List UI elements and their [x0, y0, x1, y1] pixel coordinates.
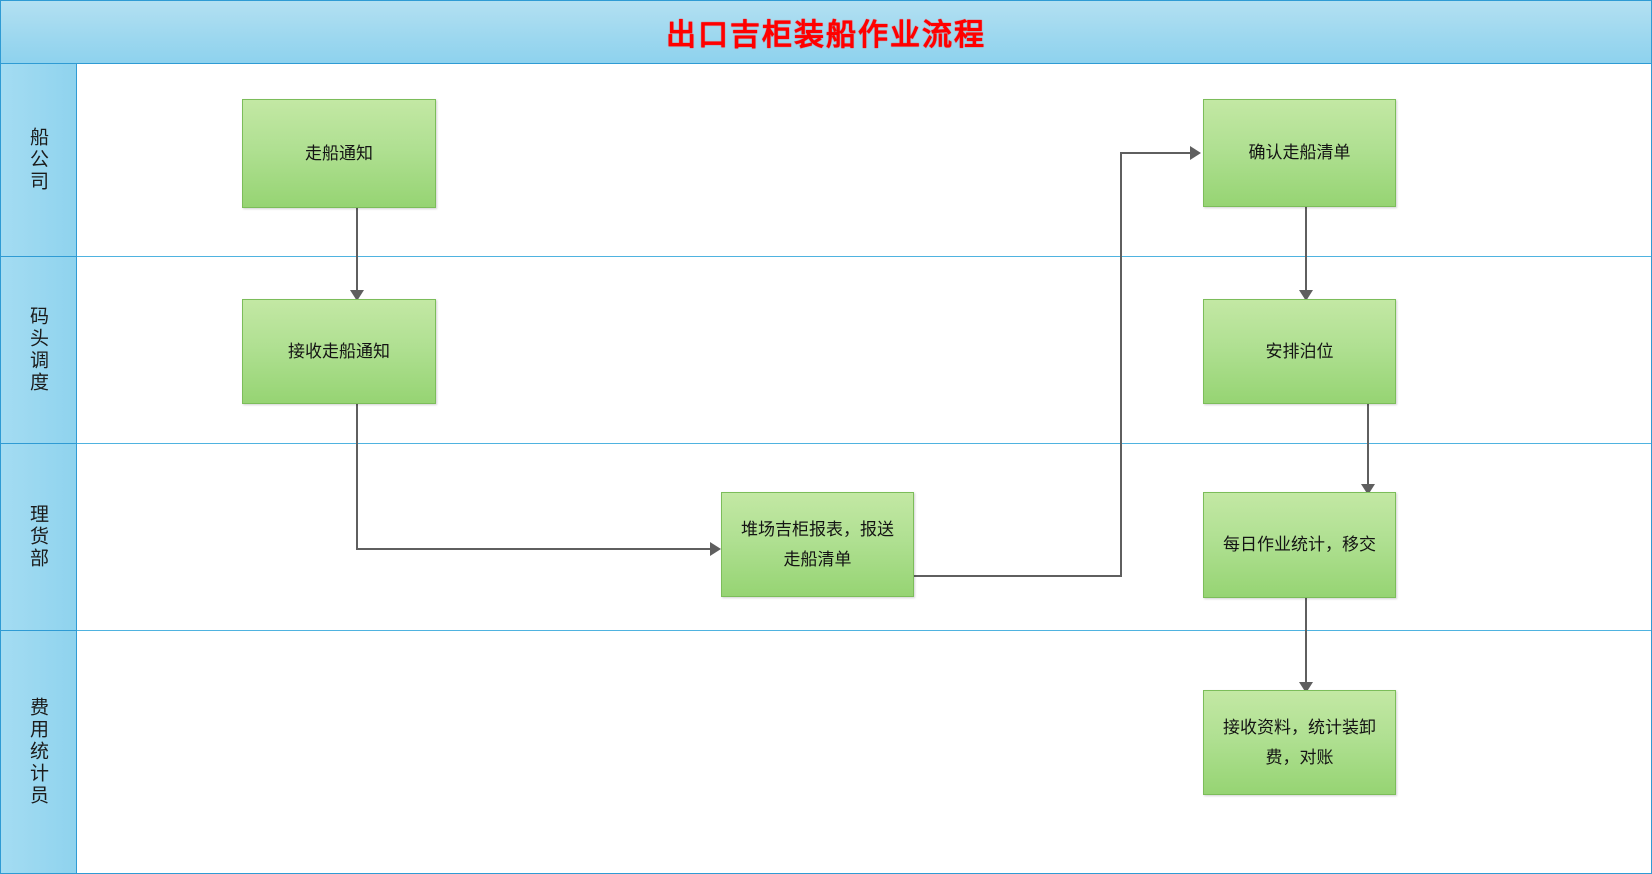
node-confirm-list[interactable]: 确认走船清单	[1203, 99, 1396, 207]
node-confirm-list-label: 确认走船清单	[1249, 138, 1351, 168]
node-receive-notice[interactable]: 接收走船通知	[242, 299, 436, 404]
conn-daily-to-receive-segment	[1305, 598, 1307, 684]
lane-label-fee-statistician: 费用统计员	[25, 697, 52, 807]
lane-label-tally-dept: 理货部	[25, 504, 52, 570]
conn-report-to-confirm-arrowhead	[1190, 146, 1201, 160]
lane-header-ship-company: 船公司	[1, 64, 77, 257]
node-receive-data-line2: 费，对账	[1266, 748, 1334, 768]
node-sail-notice-label: 走船通知	[305, 139, 373, 169]
node-daily-stat[interactable]: 每日作业统计，移交	[1203, 492, 1396, 598]
node-yard-report-line1: 堆场吉柜报表，报送	[741, 520, 894, 540]
conn-report-to-confirm-vertical	[1120, 152, 1122, 577]
node-receive-data-line1: 接收资料，统计装卸	[1223, 718, 1376, 738]
node-yard-report-label: 堆场吉柜报表，报送 走船清单	[741, 515, 894, 575]
conn-notice-to-receive-segment	[356, 208, 358, 292]
conn-receive-to-report-vertical	[356, 404, 358, 550]
lane-label-dock-dispatch: 码头调度	[25, 306, 52, 394]
lane-body-fee-statistician	[77, 631, 1651, 873]
conn-receive-to-report-arrowhead	[710, 542, 721, 556]
lane-header-dock-dispatch: 码头调度	[1, 257, 77, 444]
node-sail-notice[interactable]: 走船通知	[242, 99, 436, 208]
lane-label-ship-company: 船公司	[25, 127, 52, 193]
flowchart-canvas: 出口吉柜装船作业流程 船公司 码头调度 理货部 费用统计员 走船通知 接收走船通…	[0, 0, 1652, 874]
page-title: 出口吉柜装船作业流程	[666, 10, 986, 54]
conn-berth-to-daily-segment	[1367, 404, 1369, 486]
title-band: 出口吉柜装船作业流程	[1, 1, 1651, 64]
node-daily-stat-label: 每日作业统计，移交	[1223, 530, 1376, 560]
conn-confirm-to-berth-segment	[1305, 207, 1307, 292]
node-receive-data[interactable]: 接收资料，统计装卸 费，对账	[1203, 690, 1396, 795]
node-yard-report-line2: 走船清单	[784, 550, 852, 570]
conn-report-to-confirm-horizontal-lower	[914, 575, 1122, 577]
node-receive-notice-label: 接收走船通知	[288, 337, 390, 367]
node-arrange-berth-label: 安排泊位	[1266, 337, 1334, 367]
conn-receive-to-report-horizontal	[356, 548, 712, 550]
lane-header-fee-statistician: 费用统计员	[1, 631, 77, 873]
node-receive-data-label: 接收资料，统计装卸 费，对账	[1223, 713, 1376, 773]
node-arrange-berth[interactable]: 安排泊位	[1203, 299, 1396, 404]
conn-report-to-confirm-horizontal-upper	[1120, 152, 1192, 154]
lane-header-tally-dept: 理货部	[1, 444, 77, 631]
node-yard-report[interactable]: 堆场吉柜报表，报送 走船清单	[721, 492, 914, 597]
